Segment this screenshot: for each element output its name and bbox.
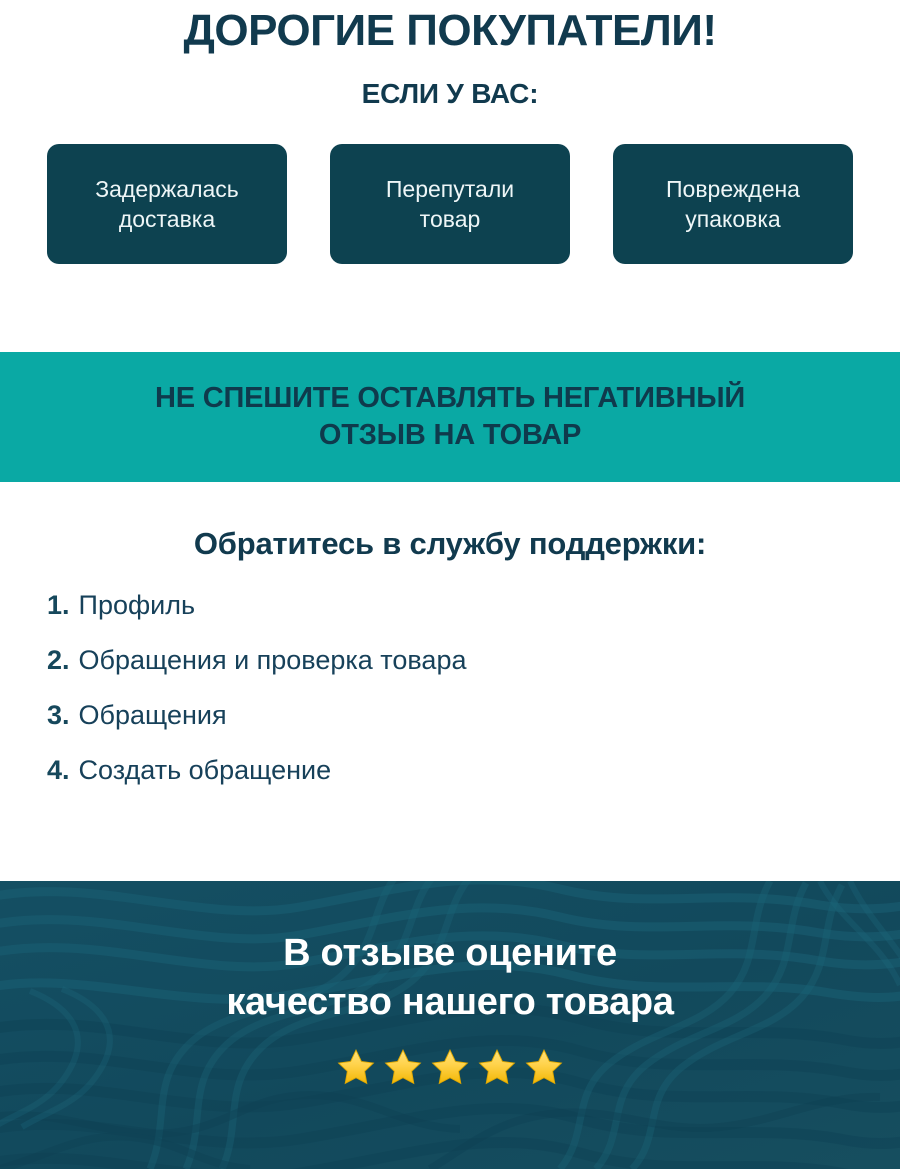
step-number: 1. [47,590,70,621]
bottom-heading: В отзыве оцените качество нашего товара [226,929,673,1028]
step-label: Обращения [79,700,227,731]
star-icon [381,1046,425,1090]
step-label: Обращения и проверка товара [79,645,467,676]
reason-box-wrong-item[interactable]: Перепутали товар [330,144,570,264]
reason-box-damaged-package[interactable]: Повреждена упаковка [613,144,853,264]
support-heading: Обратитесь в службу поддержки: [0,526,900,590]
list-item: 2. Обращения и проверка товара [47,645,900,700]
star-icon [334,1046,378,1090]
page-subtitle: ЕСЛИ У ВАС: [0,54,900,110]
reason-box-label: Повреждена упаковка [666,174,800,235]
bottom-content: В отзыве оцените качество нашего товара [0,881,900,1090]
support-section: Обратитесь в службу поддержки: 1. Профил… [0,482,900,881]
list-item: 4. Создать обращение [47,755,900,810]
bottom-section: В отзыве оцените качество нашего товара [0,881,900,1169]
reason-box-label: Задержалась доставка [95,174,239,235]
reason-box-delivery-delayed[interactable]: Задержалась доставка [47,144,287,264]
rating-stars [334,1046,566,1090]
step-number: 3. [47,700,70,731]
list-item: 1. Профиль [47,590,900,645]
step-number: 2. [47,645,70,676]
star-icon [475,1046,519,1090]
warning-banner-text: НЕ СПЕШИТЕ ОСТАВЛЯТЬ НЕГАТИВНЫЙ ОТЗЫВ НА… [131,380,769,454]
step-number: 4. [47,755,70,786]
step-label: Создать обращение [79,755,332,786]
list-item: 3. Обращения [47,700,900,755]
star-icon [428,1046,472,1090]
step-label: Профиль [79,590,196,621]
promo-page: ДОРОГИЕ ПОКУПАТЕЛИ! ЕСЛИ У ВАС: Задержал… [0,0,900,1169]
reason-box-row: Задержалась доставка Перепутали товар По… [0,110,900,264]
support-steps-list: 1. Профиль 2. Обращения и проверка товар… [0,590,900,810]
star-icon [522,1046,566,1090]
reason-box-label: Перепутали товар [386,174,514,235]
warning-banner: НЕ СПЕШИТЕ ОСТАВЛЯТЬ НЕГАТИВНЫЙ ОТЗЫВ НА… [0,352,900,482]
top-section: ДОРОГИЕ ПОКУПАТЕЛИ! ЕСЛИ У ВАС: Задержал… [0,0,900,352]
page-title: ДОРОГИЕ ПОКУПАТЕЛИ! [0,4,900,54]
